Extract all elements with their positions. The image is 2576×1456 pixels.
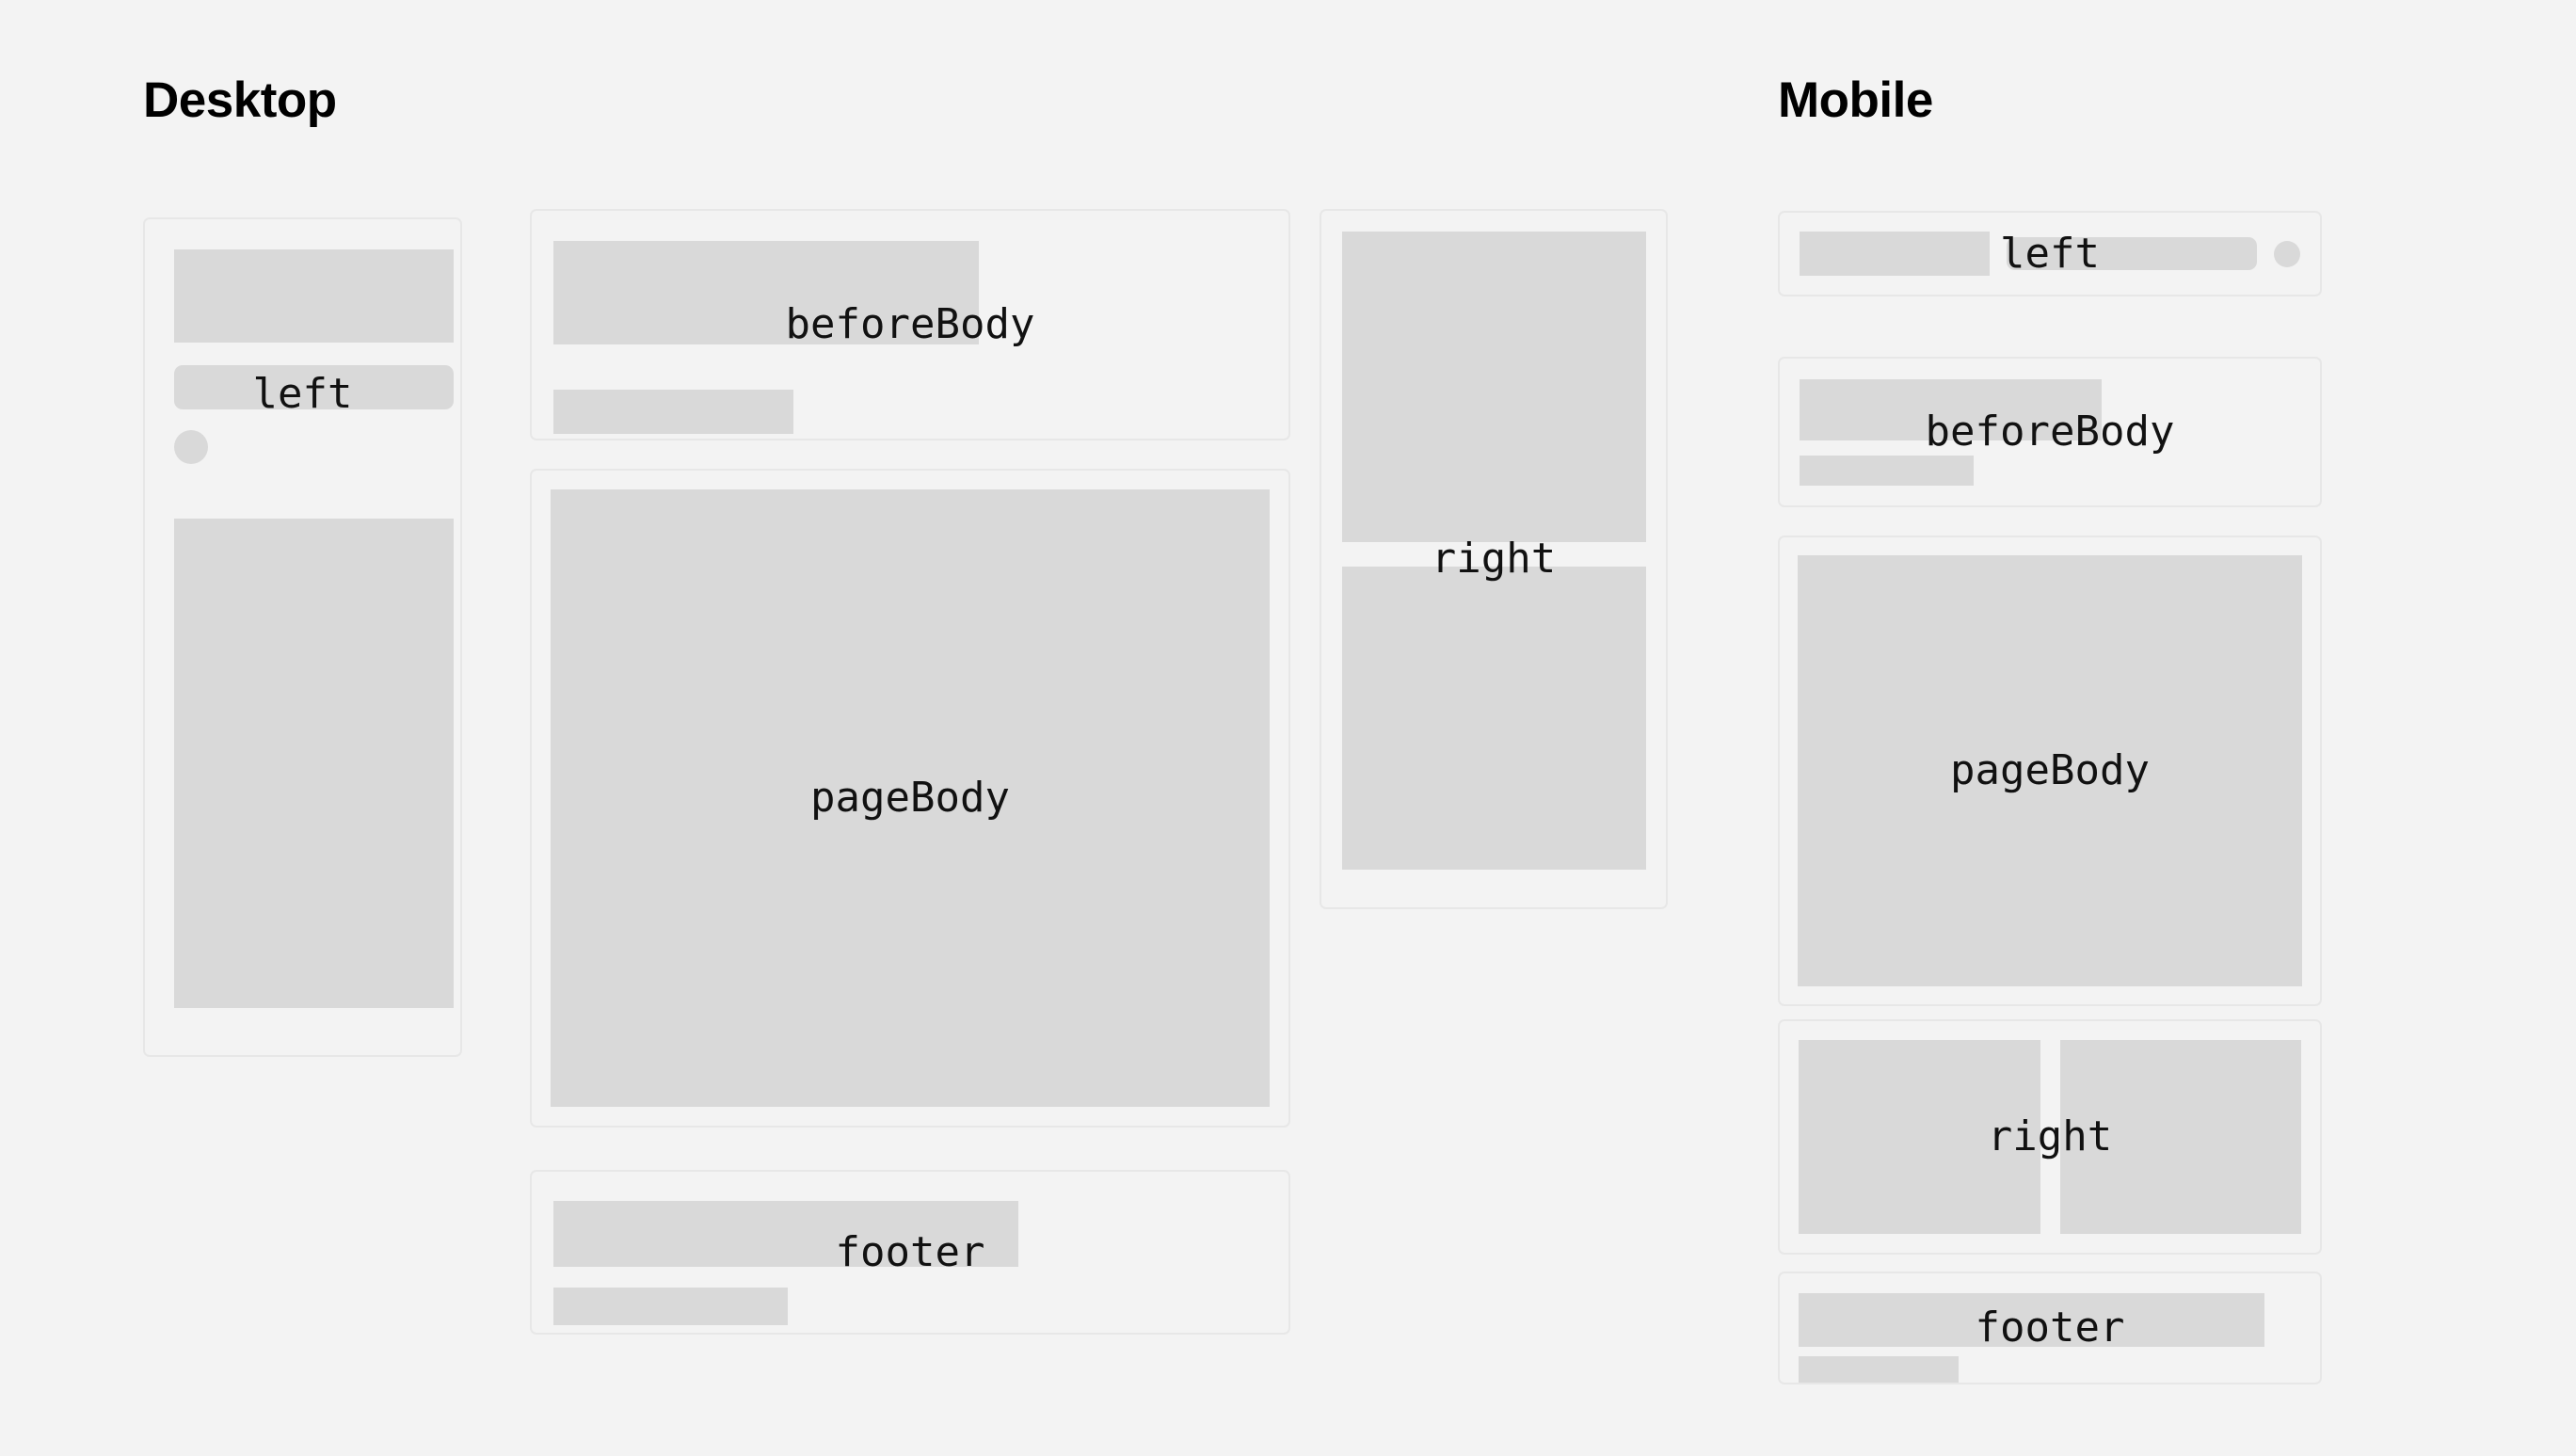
skeleton-block <box>1798 555 2302 986</box>
mobile-region-beforebody[interactable]: beforeBody <box>1778 357 2322 507</box>
skeleton-block <box>2060 1040 2302 1234</box>
skeleton-pill <box>2007 237 2257 270</box>
wireframe-canvas: Desktop left beforeBody pageBody footer … <box>0 0 2576 1456</box>
skeleton-block <box>1799 1356 1959 1383</box>
desktop-region-right[interactable]: right <box>1320 209 1668 909</box>
skeleton-block <box>1342 232 1646 542</box>
skeleton-block <box>1800 456 1974 486</box>
skeleton-block <box>553 1201 1018 1267</box>
skeleton-row <box>1799 1040 2301 1234</box>
desktop-region-beforebody[interactable]: beforeBody <box>530 209 1290 440</box>
mobile-section-heading: Mobile <box>1778 75 1933 125</box>
desktop-region-footer[interactable]: footer <box>530 1170 1290 1335</box>
skeleton-block <box>553 241 979 344</box>
skeleton-block <box>1342 567 1646 870</box>
mobile-region-footer[interactable]: footer <box>1778 1272 2322 1384</box>
desktop-section-heading: Desktop <box>143 75 337 125</box>
mobile-region-pagebody[interactable]: pageBody <box>1778 536 2322 1006</box>
skeleton-block <box>174 249 454 343</box>
skeleton-block <box>551 489 1270 1107</box>
skeleton-block <box>553 390 793 434</box>
mobile-region-left[interactable]: left <box>1778 211 2322 296</box>
skeleton-avatar-circle <box>2274 241 2300 267</box>
skeleton-block <box>1799 1040 2040 1234</box>
skeleton-row <box>1800 232 2300 275</box>
skeleton-block <box>553 1288 788 1325</box>
skeleton-block <box>1800 232 1990 276</box>
skeleton-block <box>174 519 454 1008</box>
skeleton-block <box>1800 379 2102 440</box>
desktop-region-left[interactable]: left <box>143 217 462 1057</box>
desktop-region-pagebody[interactable]: pageBody <box>530 469 1290 1128</box>
skeleton-pill <box>174 365 454 409</box>
mobile-region-right[interactable]: right <box>1778 1019 2322 1255</box>
skeleton-block <box>1799 1293 2264 1347</box>
skeleton-avatar-circle <box>174 430 208 464</box>
